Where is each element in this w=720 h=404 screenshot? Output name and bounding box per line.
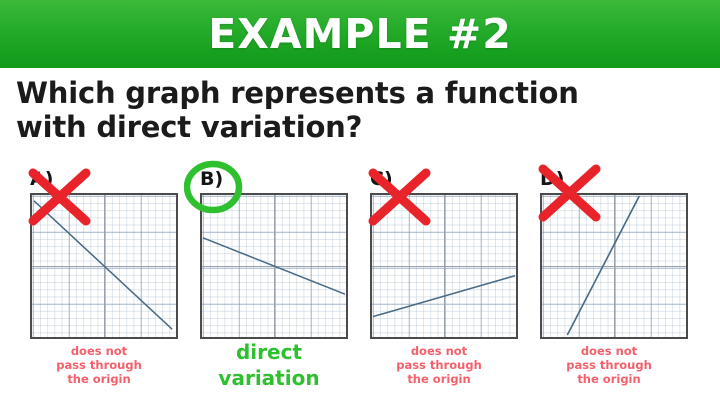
- graph-d-line: [542, 195, 686, 337]
- option-a-label: A): [30, 168, 53, 190]
- caption-line-3: the origin: [14, 372, 184, 386]
- caption-line-3: the origin: [354, 372, 524, 386]
- graph-b: [200, 193, 348, 339]
- caption-line-2: pass through: [354, 358, 524, 372]
- question-line-2: with direct variation?: [16, 110, 676, 144]
- option-c-caption: does not pass through the origin: [354, 344, 524, 386]
- caption-line-1: does not: [524, 344, 694, 358]
- graph-c: [370, 193, 518, 339]
- graph-d: [540, 193, 688, 339]
- caption-line-3: the origin: [524, 372, 694, 386]
- option-b-label: B): [200, 168, 223, 190]
- question-line-1: Which graph represents a function: [16, 76, 676, 110]
- page-title: EXAMPLE #2: [208, 10, 512, 58]
- graph-a: [30, 193, 178, 339]
- option-c[interactable]: C) does not pass through the origin: [354, 160, 524, 404]
- option-b-caption: direct variation: [184, 340, 354, 391]
- graph-c-line: [372, 195, 516, 337]
- caption-line-1: does not: [14, 344, 184, 358]
- question-text: Which graph represents a function with d…: [16, 76, 676, 144]
- option-d[interactable]: D) does not pass through the origin: [524, 160, 694, 404]
- caption-line-1: does not: [354, 344, 524, 358]
- caption-line-2: pass through: [14, 358, 184, 372]
- option-a[interactable]: A) does not pass through the origin: [14, 160, 184, 404]
- option-d-caption: does not pass through the origin: [524, 344, 694, 386]
- option-d-label: D): [540, 168, 564, 190]
- slide: EXAMPLE #2 Which graph represents a func…: [0, 0, 720, 404]
- option-b[interactable]: B) direct variation: [184, 160, 354, 404]
- answer-options: A) does not pass through the origin: [0, 160, 720, 404]
- option-c-label: C): [370, 168, 393, 190]
- header-banner: EXAMPLE #2: [0, 0, 720, 68]
- option-a-caption: does not pass through the origin: [14, 344, 184, 386]
- caption-line-2: pass through: [524, 358, 694, 372]
- caption-line-1: direct: [184, 340, 354, 366]
- graph-a-line: [32, 195, 176, 337]
- graph-b-line: [202, 195, 346, 337]
- caption-line-2: variation: [184, 366, 354, 392]
